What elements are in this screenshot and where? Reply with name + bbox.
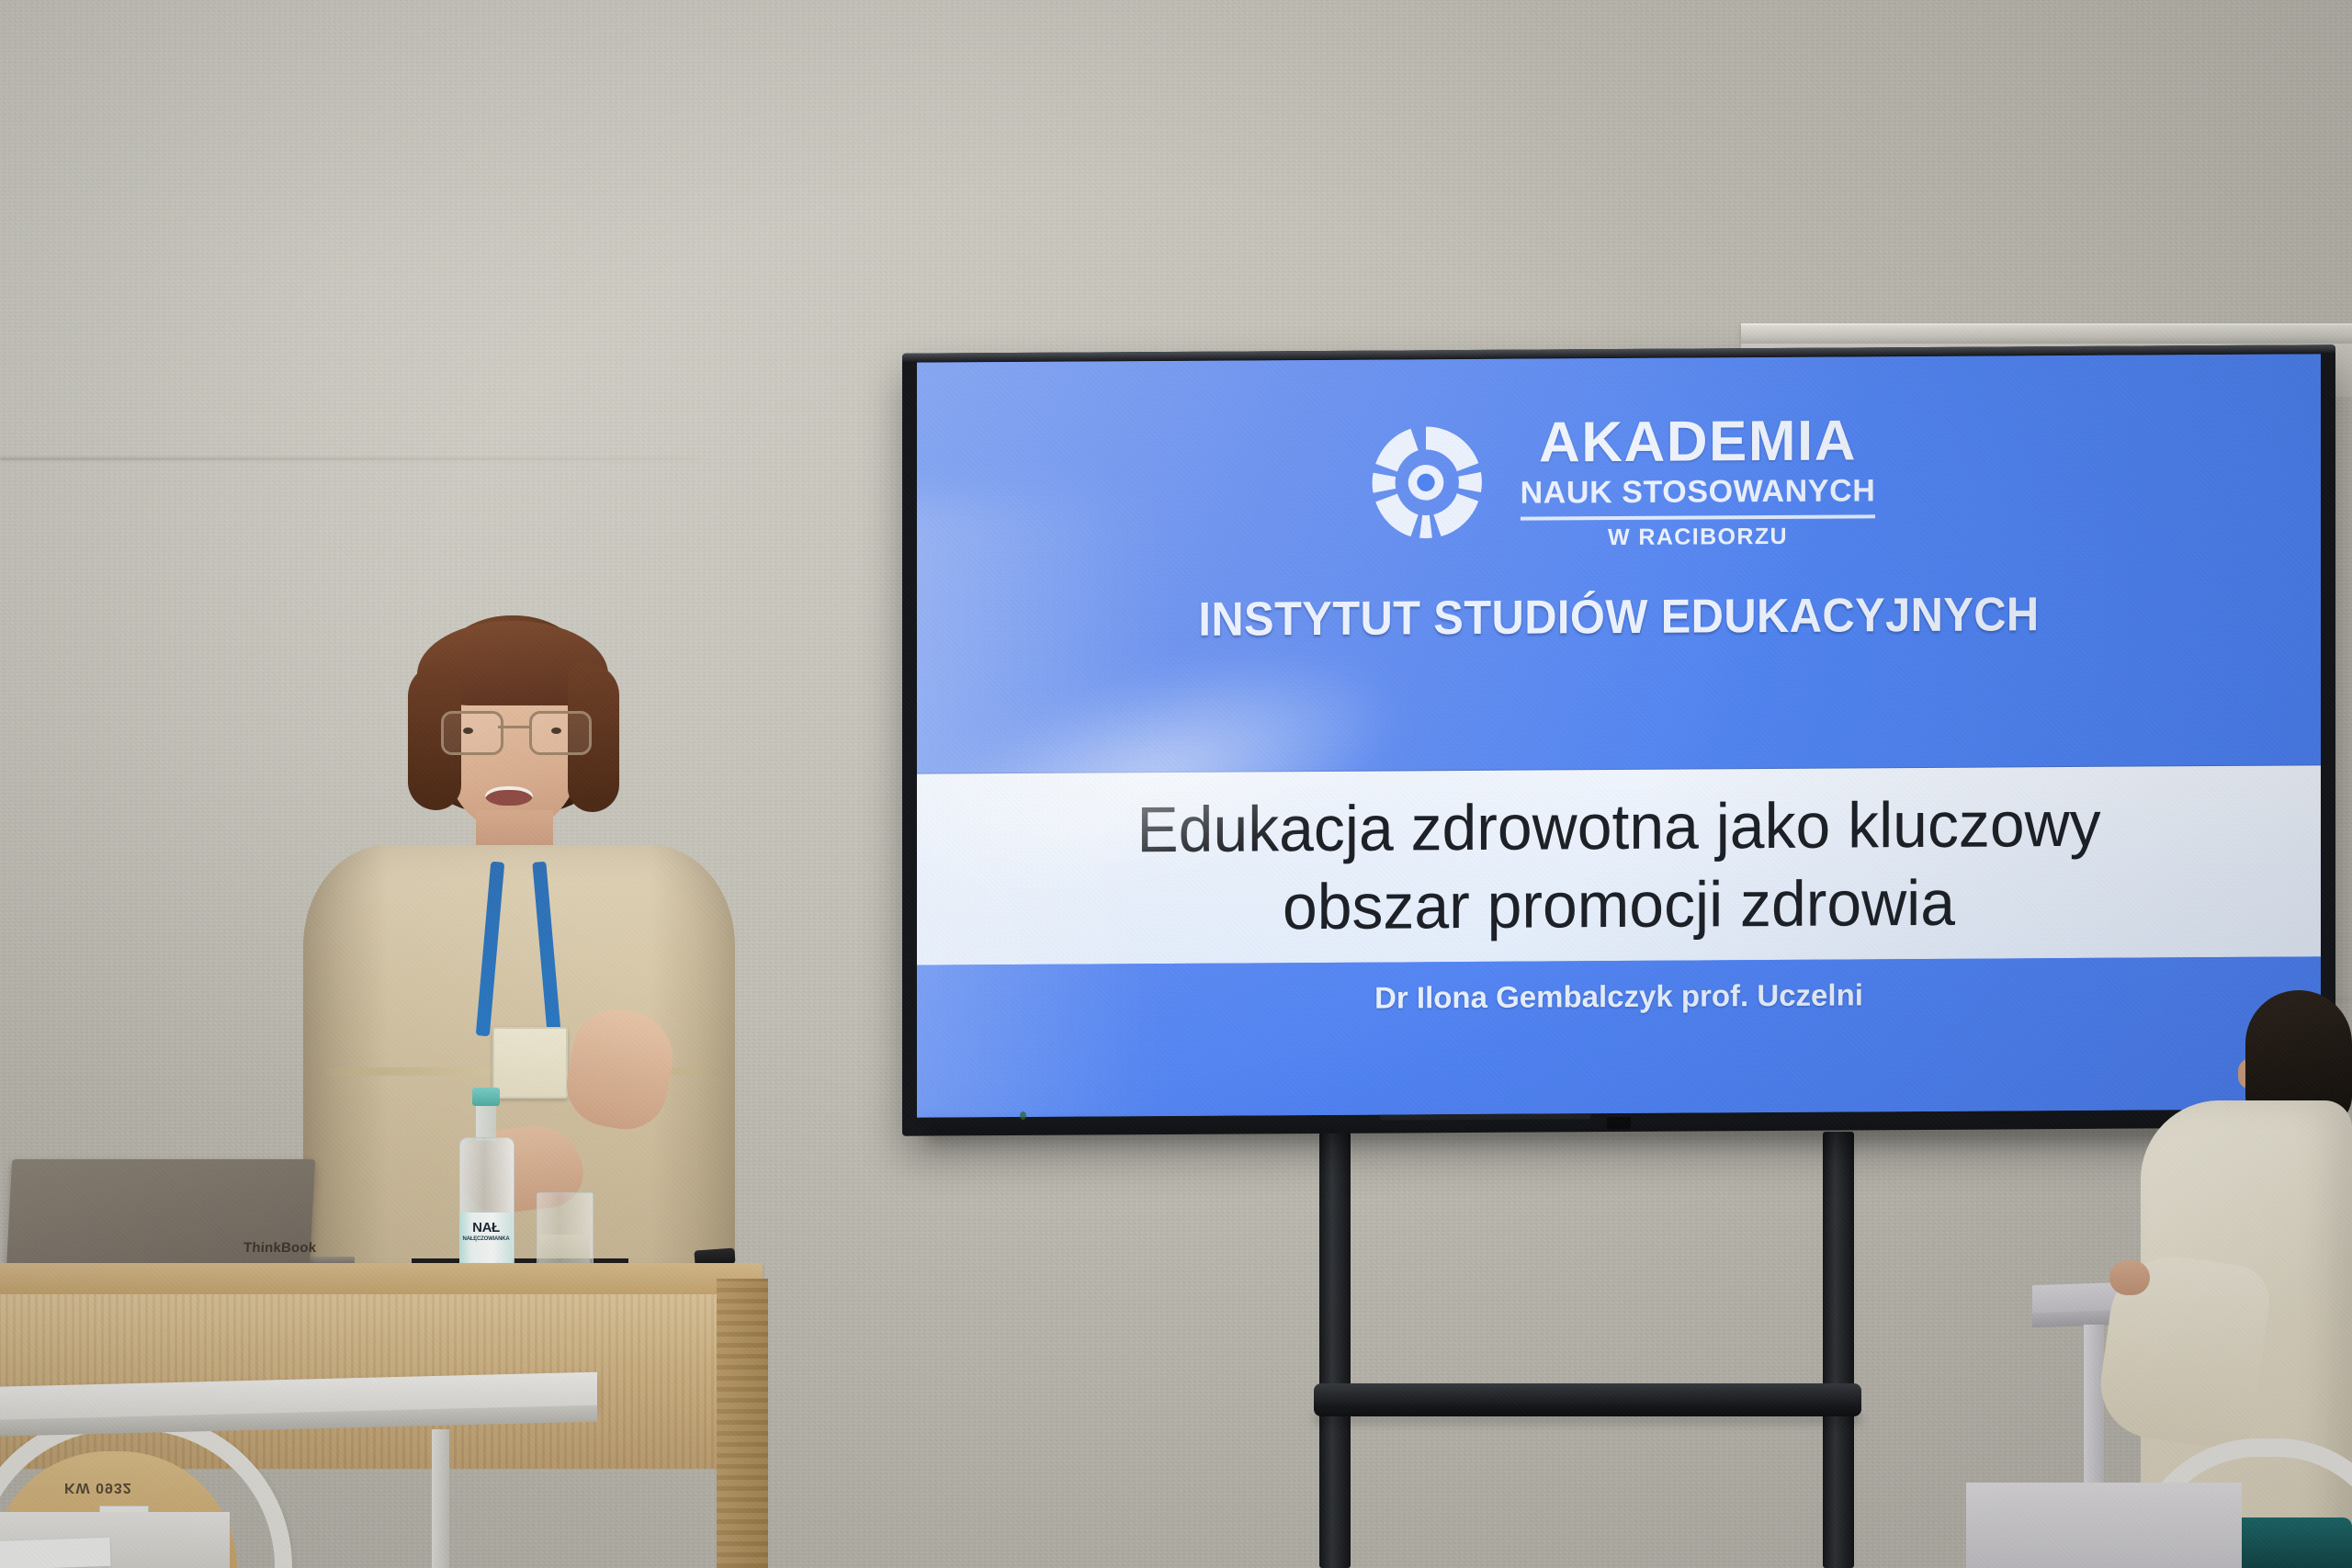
photo-vignette <box>0 0 2352 1568</box>
lecture-room-photo: AKADEMIA NAUK STOSOWANYCH W RACIBORZU IN… <box>0 0 2352 1568</box>
